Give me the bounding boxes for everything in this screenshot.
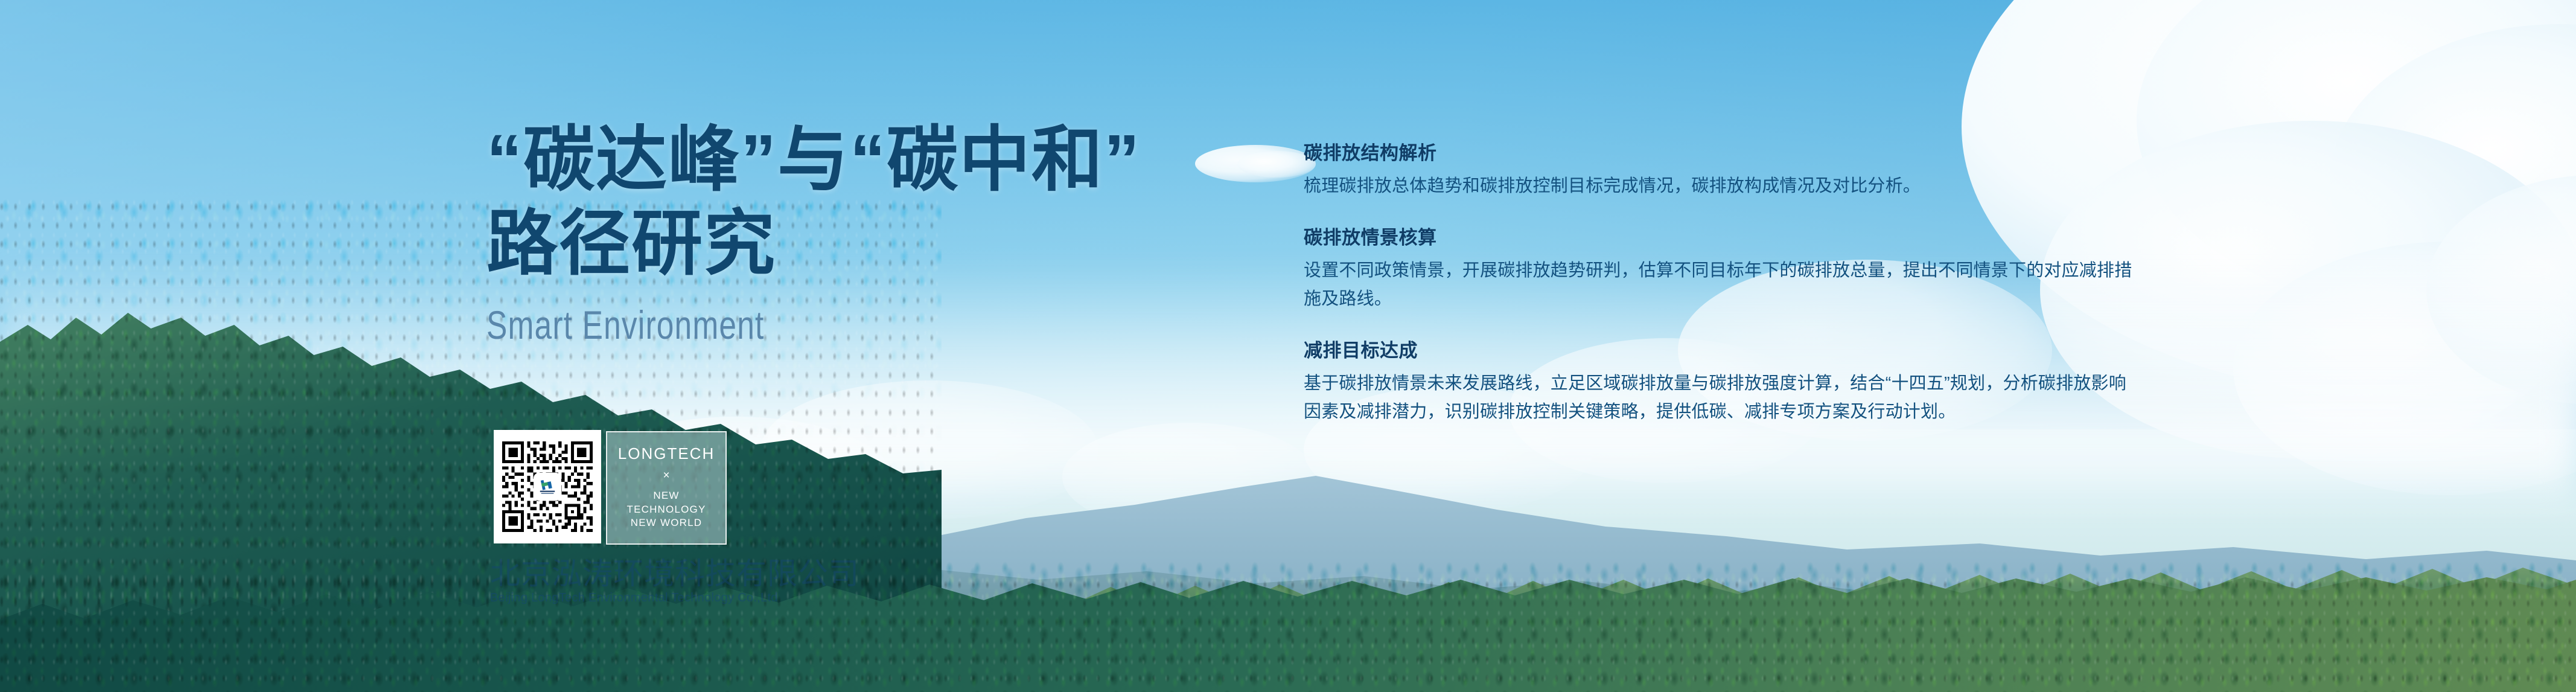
info-block-0: 碳排放结构解析 梳理碳排放总体趋势和碳排放控制目标完成情况，碳排放构成情况及对比… xyxy=(1304,138,2137,200)
company-watermark: 北京泓涛环境科技有限公司 Beijing LongTech Environmen… xyxy=(490,559,744,605)
brand-separator-icon: × xyxy=(663,469,669,482)
page-subtitle: Smart Environment xyxy=(486,302,1075,348)
longtech-logo-icon xyxy=(535,474,560,499)
info-body: 设置不同政策情景，开展碳排放趋势研判，估算不同目标年下的碳排放总量，提出不同情景… xyxy=(1304,257,2137,313)
forest-band-bottom xyxy=(0,577,2576,692)
brand-tagline-line-1: NEW xyxy=(653,489,679,502)
info-block-2: 减排目标达成 基于碳排放情景未来发展路线，立足区域碳排放量与碳排放强度计算，结合… xyxy=(1304,335,2137,426)
hero-title-block: “碳达峰”与“碳中和” 路径研究 Smart Environment xyxy=(486,118,1241,348)
watermark-chinese: 北京泓涛环境科技有限公司 xyxy=(490,559,744,589)
forest-texture-bottom-fine xyxy=(0,577,2576,692)
info-column: 碳排放结构解析 梳理碳排放总体趋势和碳排放控制目标完成情况，碳排放构成情况及对比… xyxy=(1304,138,2137,448)
info-body: 梳理碳排放总体趋势和碳排放控制目标完成情况，碳排放构成情况及对比分析。 xyxy=(1304,172,2137,200)
page-title-line-1: “碳达峰”与“碳中和” xyxy=(486,118,1241,202)
qr-code-card[interactable] xyxy=(494,430,601,543)
page-title-line-2: 路径研究 xyxy=(486,202,1241,286)
watermark-english: Beijing LongTech Environmental Technolog… xyxy=(490,591,744,605)
brand-tagline-line-3: NEW WORLD xyxy=(631,516,702,530)
info-body: 基于碳排放情景未来发展路线，立足区域碳排放量与碳排放强度计算，结合“十四五”规划… xyxy=(1304,370,2137,426)
info-block-1: 碳排放情景核算 设置不同政策情景，开展碳排放趋势研判，估算不同目标年下的碳排放总… xyxy=(1304,222,2137,313)
info-heading: 碳排放结构解析 xyxy=(1304,138,2137,165)
info-heading: 碳排放情景核算 xyxy=(1304,222,2137,249)
brand-panel: LONGTECH × NEW TECHNOLOGY NEW WORLD xyxy=(606,431,727,545)
brand-name: LONGTECH xyxy=(618,446,715,461)
hero-banner: “碳达峰”与“碳中和” 路径研究 Smart Environment 碳排放结构… xyxy=(0,0,2576,692)
qr-code-icon[interactable] xyxy=(502,441,593,532)
info-heading: 减排目标达成 xyxy=(1304,335,2137,362)
brand-tagline-line-2: TECHNOLOGY xyxy=(626,503,706,516)
